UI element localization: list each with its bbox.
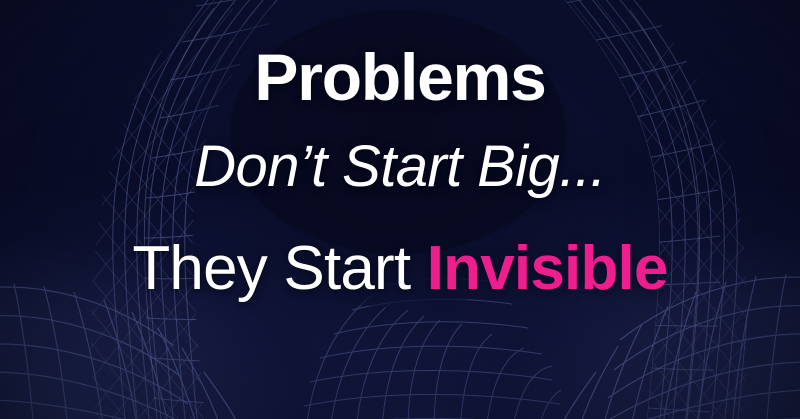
headline-block: Problems Don’t Start Big... They Start I… [0, 0, 800, 419]
headline-line-1: Problems [254, 44, 545, 110]
headline-line-3: They Start Invisible [132, 238, 667, 300]
headline-line-2: Don’t Start Big... [194, 138, 605, 196]
social-banner-image: Problems Don’t Start Big... They Start I… [0, 0, 800, 419]
headline-line-3-prefix: They Start [132, 234, 426, 303]
headline-line-3-accent: Invisible [427, 234, 668, 303]
